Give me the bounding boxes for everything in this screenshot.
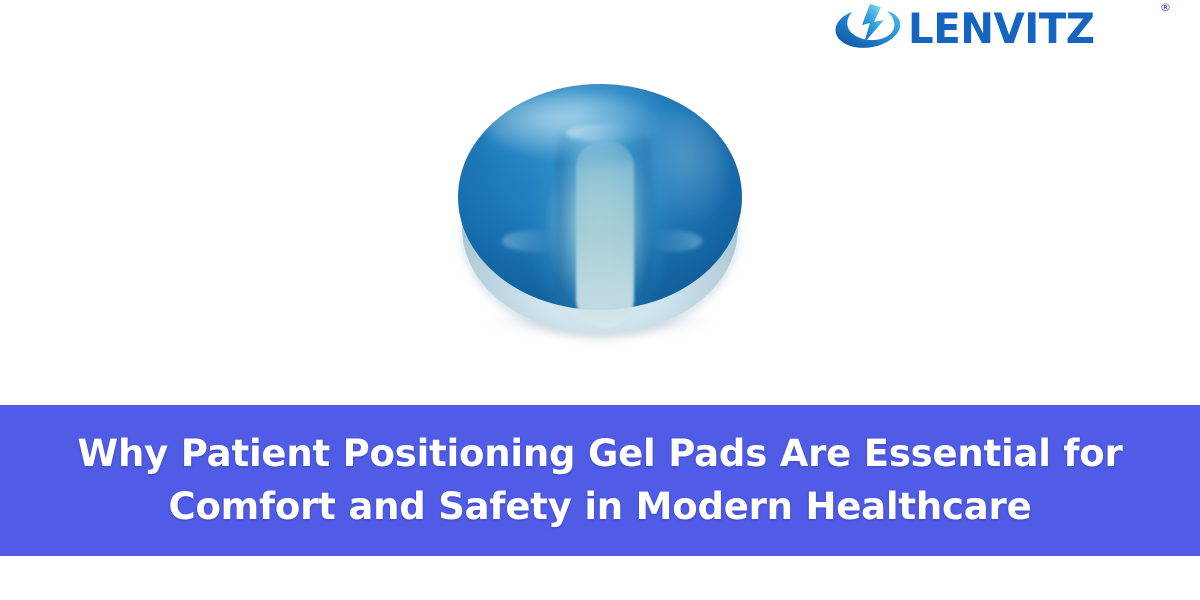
title-banner: Why Patient Positioning Gel Pads Are Ess… <box>0 405 1200 556</box>
page-title: Why Patient Positioning Gel Pads Are Ess… <box>45 428 1155 533</box>
product-image-gel-pad <box>458 84 742 336</box>
swoosh-arrow-logo-icon <box>832 2 910 54</box>
article-hero-banner: LENVITZ ® Why Patient Positioning Gel Pa… <box>0 0 1200 600</box>
pad-emboss-bottom-left <box>502 230 568 252</box>
product-image-stage <box>0 60 1200 400</box>
pad-gloss-highlight-right <box>630 110 726 230</box>
pad-emboss-bottom-right <box>640 230 702 252</box>
pad-gel-dome <box>458 84 742 310</box>
registered-trademark-symbol: ® <box>1160 2 1171 13</box>
pad-center-channel <box>576 142 634 328</box>
brand-logo[interactable]: LENVITZ <box>832 0 1172 56</box>
brand-wordmark: LENVITZ <box>908 8 1095 50</box>
